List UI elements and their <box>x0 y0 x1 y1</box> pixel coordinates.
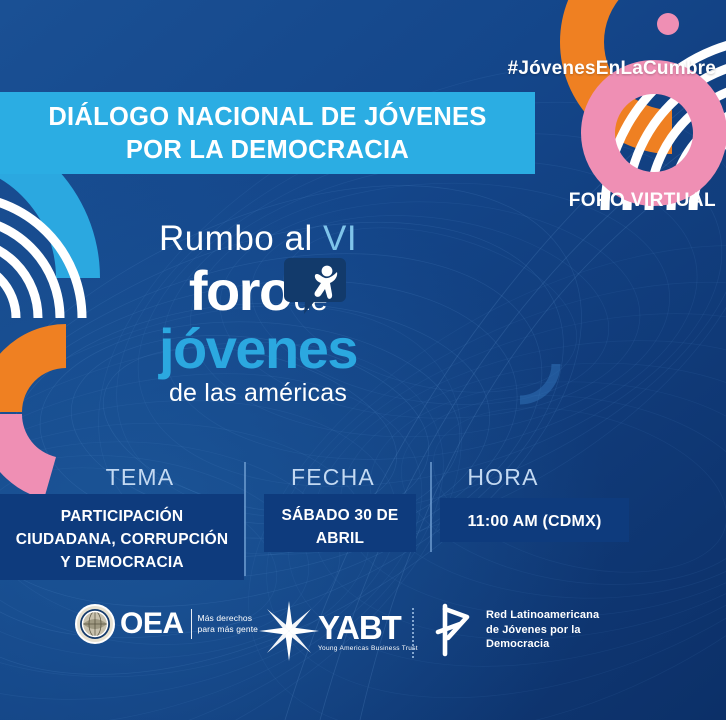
event-logo: Rumbo al VI forode jóvenes de las améric… <box>108 218 408 408</box>
rljd-line-2: de Jóvenes por la <box>486 624 581 636</box>
logo-foro-word: foro <box>189 259 292 322</box>
tema-panel: PARTICIPACIÓN CIUDADANA, CORRUPCIÓN Y DE… <box>0 494 244 580</box>
oea-divider <box>191 609 192 639</box>
fecha-value: SÁBADO 30 DE ABRIL <box>264 494 416 550</box>
oea-tagline-line-1: Más derechos <box>198 613 253 623</box>
blue-accent-arc <box>520 364 556 400</box>
title-banner: DIÁLOGO NACIONAL DE JÓVENES POR LA DEMOC… <box>0 92 535 174</box>
event-poster: #JóvenesEnLaCumbre DIÁLOGO NACIONAL DE J… <box>0 0 726 720</box>
fecha-panel: SÁBADO 30 DE ABRIL <box>264 494 416 552</box>
fecha-label: FECHA <box>258 464 408 491</box>
rljd-logo: Red Latinoamericana de Jóvenes por la De… <box>434 602 599 658</box>
speech-bubble-person-icon <box>284 258 346 314</box>
tema-label: TEMA <box>45 464 235 491</box>
rljd-line-1: Red Latinoamericana <box>486 609 599 621</box>
hashtag: #JóvenesEnLaCumbre <box>0 58 716 80</box>
logo-rumbo-text: Rumbo al <box>159 219 323 258</box>
rljd-name: Red Latinoamericana de Jóvenes por la De… <box>486 608 599 652</box>
tema-value: PARTICIPACIÓN CIUDADANA, CORRUPCIÓN Y DE… <box>0 494 244 574</box>
foro-virtual-label: FORO VIRTUAL <box>0 190 716 212</box>
sponsor-logos: OEA Más derechos para más gente <box>0 596 726 668</box>
starburst-icon <box>258 600 320 662</box>
oea-logo: OEA Más derechos para más gente <box>75 604 258 644</box>
logo-roman-numeral: VI <box>323 219 357 258</box>
yabt-subtitle: Young Americas Business Trust <box>318 645 418 652</box>
yabt-logo: YABT Young Americas Business Trust <box>258 600 418 662</box>
rljd-mark-icon <box>434 602 476 658</box>
oea-tagline-line-2: para más gente <box>198 624 258 634</box>
yabt-wordmark: YABT <box>318 611 418 644</box>
oea-seal-icon <box>75 604 115 644</box>
hora-label: HORA <box>443 464 563 491</box>
title-line-1: DIÁLOGO NACIONAL DE JÓVENES <box>0 92 535 134</box>
title-line-2: POR LA DEMOCRACIA <box>0 134 535 167</box>
logo-foro-row: forode <box>108 260 408 322</box>
oea-tagline: Más derechos para más gente <box>198 613 258 635</box>
logo-americas-text: de las américas <box>108 379 408 408</box>
oea-wordmark: OEA <box>120 607 184 641</box>
rljd-line-3: Democracia <box>486 638 549 650</box>
orange-arc-left <box>0 324 66 412</box>
footer-dotted-divider <box>412 608 414 658</box>
divider-tema-fecha <box>244 462 246 576</box>
divider-fecha-hora <box>430 462 432 552</box>
logo-rumbo-line: Rumbo al VI <box>108 218 408 260</box>
logo-jovenes-word: jóvenes <box>108 320 408 378</box>
hora-panel: 11:00 AM (CDMX) <box>440 498 629 542</box>
hora-value: 11:00 AM (CDMX) <box>440 498 629 533</box>
